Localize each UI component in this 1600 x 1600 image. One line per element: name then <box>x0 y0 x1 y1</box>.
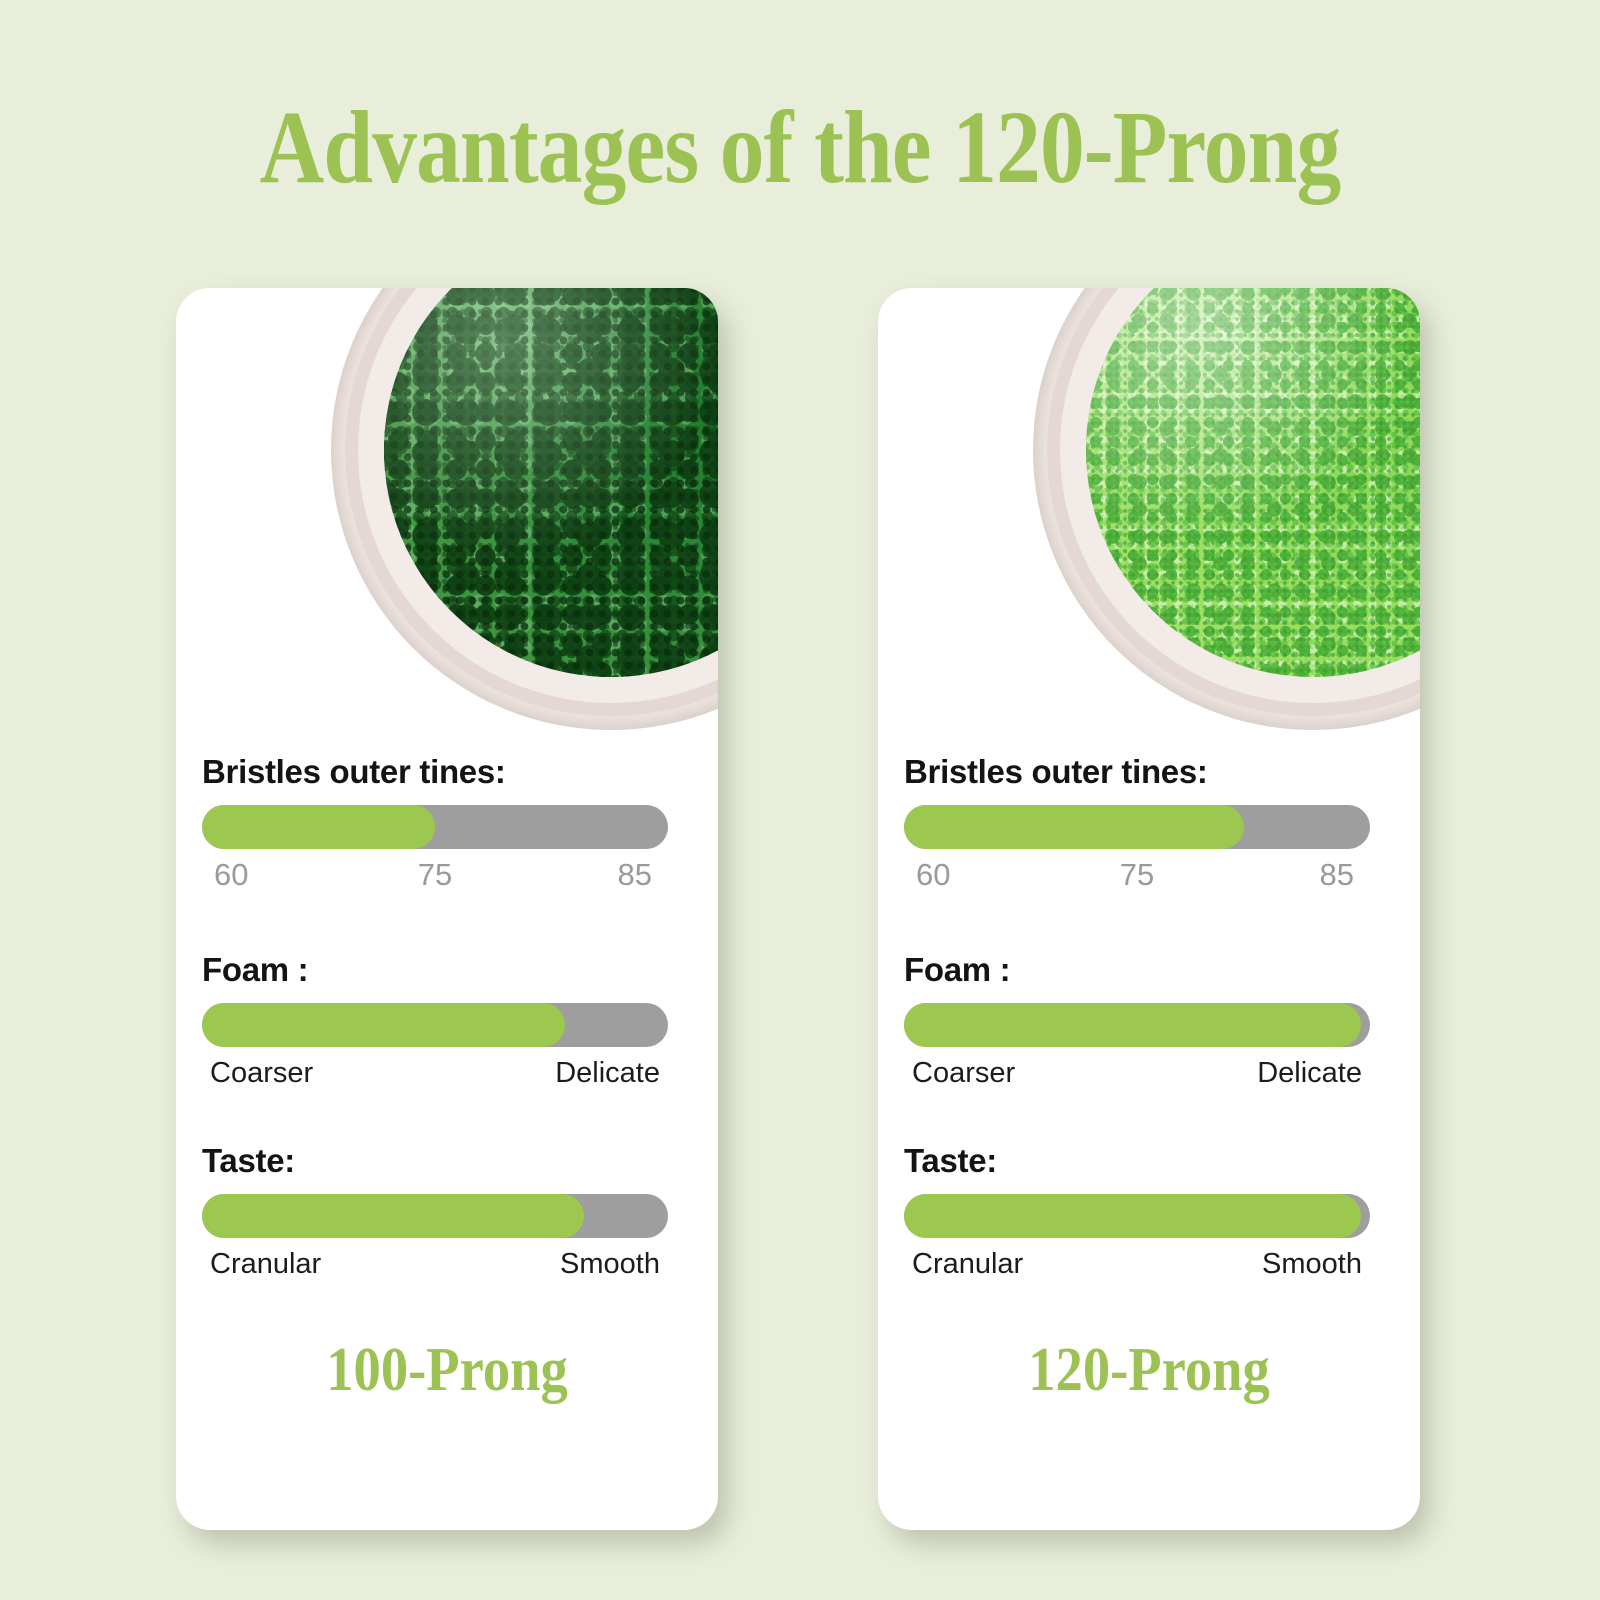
bowl-rim-inner <box>1060 288 1420 703</box>
metric-label: Bristles outer tines: <box>202 753 692 791</box>
scale-tick-min: 60 <box>214 857 248 893</box>
metric-taste: Taste: Cranular Smooth <box>904 1142 1394 1281</box>
metrics-list-100-prong: Bristles outer tines: 60 75 85 Foam : Co… <box>202 743 692 1281</box>
progress-bar-track[interactable] <box>904 1003 1370 1047</box>
scale-tick-min: 60 <box>916 857 950 893</box>
foam-highlight-sheen <box>384 288 718 677</box>
metric-label: Foam : <box>904 951 1394 989</box>
bowl-rim-inner <box>358 288 718 703</box>
scale-endpoint-left: Coarser <box>210 1057 313 1090</box>
scale-tick-mid: 75 <box>418 857 452 893</box>
scale-endpoints: Coarser Delicate <box>904 1057 1370 1090</box>
foam-highlight-sheen <box>1086 288 1420 677</box>
scale-numbers: 60 75 85 <box>202 857 668 899</box>
metric-label: Taste: <box>904 1142 1394 1180</box>
scale-endpoint-left: Coarser <box>912 1057 1015 1090</box>
matcha-bowl-photo-120-prong <box>878 288 1420 743</box>
card-title-100-prong: 100-Prong <box>209 1335 686 1406</box>
metrics-list-120-prong: Bristles outer tines: 60 75 85 Foam : Co… <box>904 743 1394 1281</box>
scale-endpoint-left: Cranular <box>912 1248 1023 1281</box>
metric-taste: Taste: Cranular Smooth <box>202 1142 692 1281</box>
matcha-bowl-icon <box>331 288 718 730</box>
metric-foam: Foam : Coarser Delicate <box>202 951 692 1090</box>
progress-bar-fill <box>202 1003 565 1047</box>
progress-bar-fill <box>202 805 435 849</box>
progress-bar-fill <box>904 1003 1361 1047</box>
scale-tick-mid: 75 <box>1120 857 1154 893</box>
product-card-120-prong[interactable]: Bristles outer tines: 60 75 85 Foam : Co… <box>878 288 1420 1530</box>
matcha-foam-surface-light <box>1086 288 1420 677</box>
metric-label: Foam : <box>202 951 692 989</box>
scale-endpoint-right: Delicate <box>555 1057 660 1090</box>
progress-bar-track[interactable] <box>202 1003 668 1047</box>
matcha-bowl-photo-100-prong <box>176 288 718 743</box>
metric-label: Bristles outer tines: <box>904 753 1394 791</box>
metric-foam: Foam : Coarser Delicate <box>904 951 1394 1090</box>
scale-endpoints: Cranular Smooth <box>904 1248 1370 1281</box>
scale-endpoint-right: Delicate <box>1257 1057 1362 1090</box>
progress-bar-track[interactable] <box>202 1194 668 1238</box>
matcha-foam-surface-dark <box>384 288 718 677</box>
progress-bar-fill <box>904 1194 1361 1238</box>
bowl-rim-outer <box>1047 288 1420 716</box>
metric-label: Taste: <box>202 1142 692 1180</box>
scale-tick-max: 85 <box>618 857 652 893</box>
metric-bristles-outer-tines: Bristles outer tines: 60 75 85 <box>202 753 692 899</box>
scale-endpoints: Coarser Delicate <box>202 1057 668 1090</box>
bowl-rim-outer <box>345 288 718 716</box>
scale-endpoint-left: Cranular <box>210 1248 321 1281</box>
product-card-100-prong[interactable]: Bristles outer tines: 60 75 85 Foam : Co… <box>176 288 718 1530</box>
matcha-bowl-icon <box>1033 288 1420 730</box>
scale-tick-max: 85 <box>1320 857 1354 893</box>
progress-bar-fill <box>904 805 1244 849</box>
progress-bar-track[interactable] <box>904 1194 1370 1238</box>
progress-bar-fill <box>202 1194 584 1238</box>
progress-bar-track[interactable] <box>904 805 1370 849</box>
scale-endpoints: Cranular Smooth <box>202 1248 668 1281</box>
comparison-cards-container: Bristles outer tines: 60 75 85 Foam : Co… <box>0 288 1600 1538</box>
card-title-120-prong: 120-Prong <box>911 1335 1388 1406</box>
scale-endpoint-right: Smooth <box>1262 1248 1362 1281</box>
page-title: Advantages of the 120-Prong <box>112 96 1488 200</box>
metric-bristles-outer-tines: Bristles outer tines: 60 75 85 <box>904 753 1394 899</box>
scale-endpoint-right: Smooth <box>560 1248 660 1281</box>
scale-numbers: 60 75 85 <box>904 857 1370 899</box>
progress-bar-track[interactable] <box>202 805 668 849</box>
